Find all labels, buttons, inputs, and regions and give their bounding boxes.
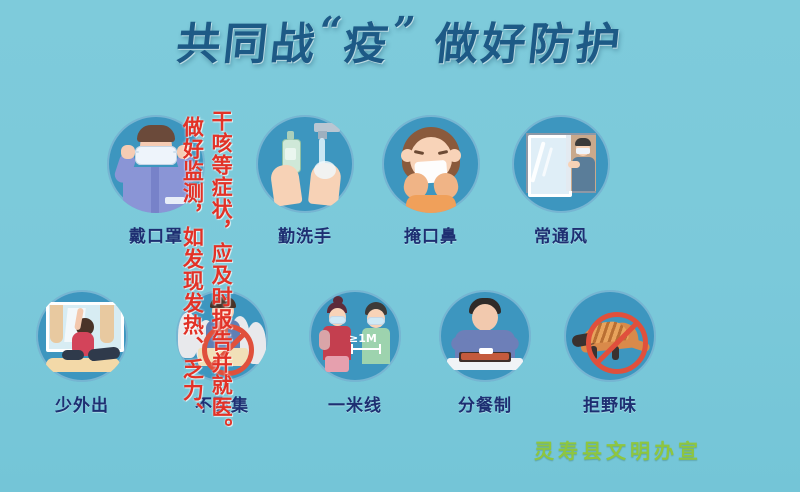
health-advisory-slogan: 做好监测，如发现发热、乏力、 干咳等症状，应及时报告并就医。 <box>180 110 778 440</box>
title-part-1: 共同战 <box>174 19 320 70</box>
icon-cell-stay-home[interactable]: 少外出 <box>36 290 128 416</box>
page-title: 共同战“疫”做好防护 <box>0 8 800 72</box>
stay-home-exercise-icon <box>36 290 128 382</box>
icon-label: 少外出 <box>36 391 128 416</box>
poster-canvas: 共同战“疫”做好防护 戴口罩 <box>0 0 800 492</box>
title-quote-close: ” <box>389 8 420 55</box>
slogan-column-left: 做好监测，如发现发热、乏力、 <box>180 116 205 440</box>
title-highlight: 疫 <box>341 19 393 70</box>
title-part-2: 做好防护 <box>432 19 625 70</box>
credit-line: 灵寿县文明办宣 <box>534 435 702 464</box>
slogan-column-right: 干咳等症状，应及时报告并就医。 <box>208 110 233 440</box>
